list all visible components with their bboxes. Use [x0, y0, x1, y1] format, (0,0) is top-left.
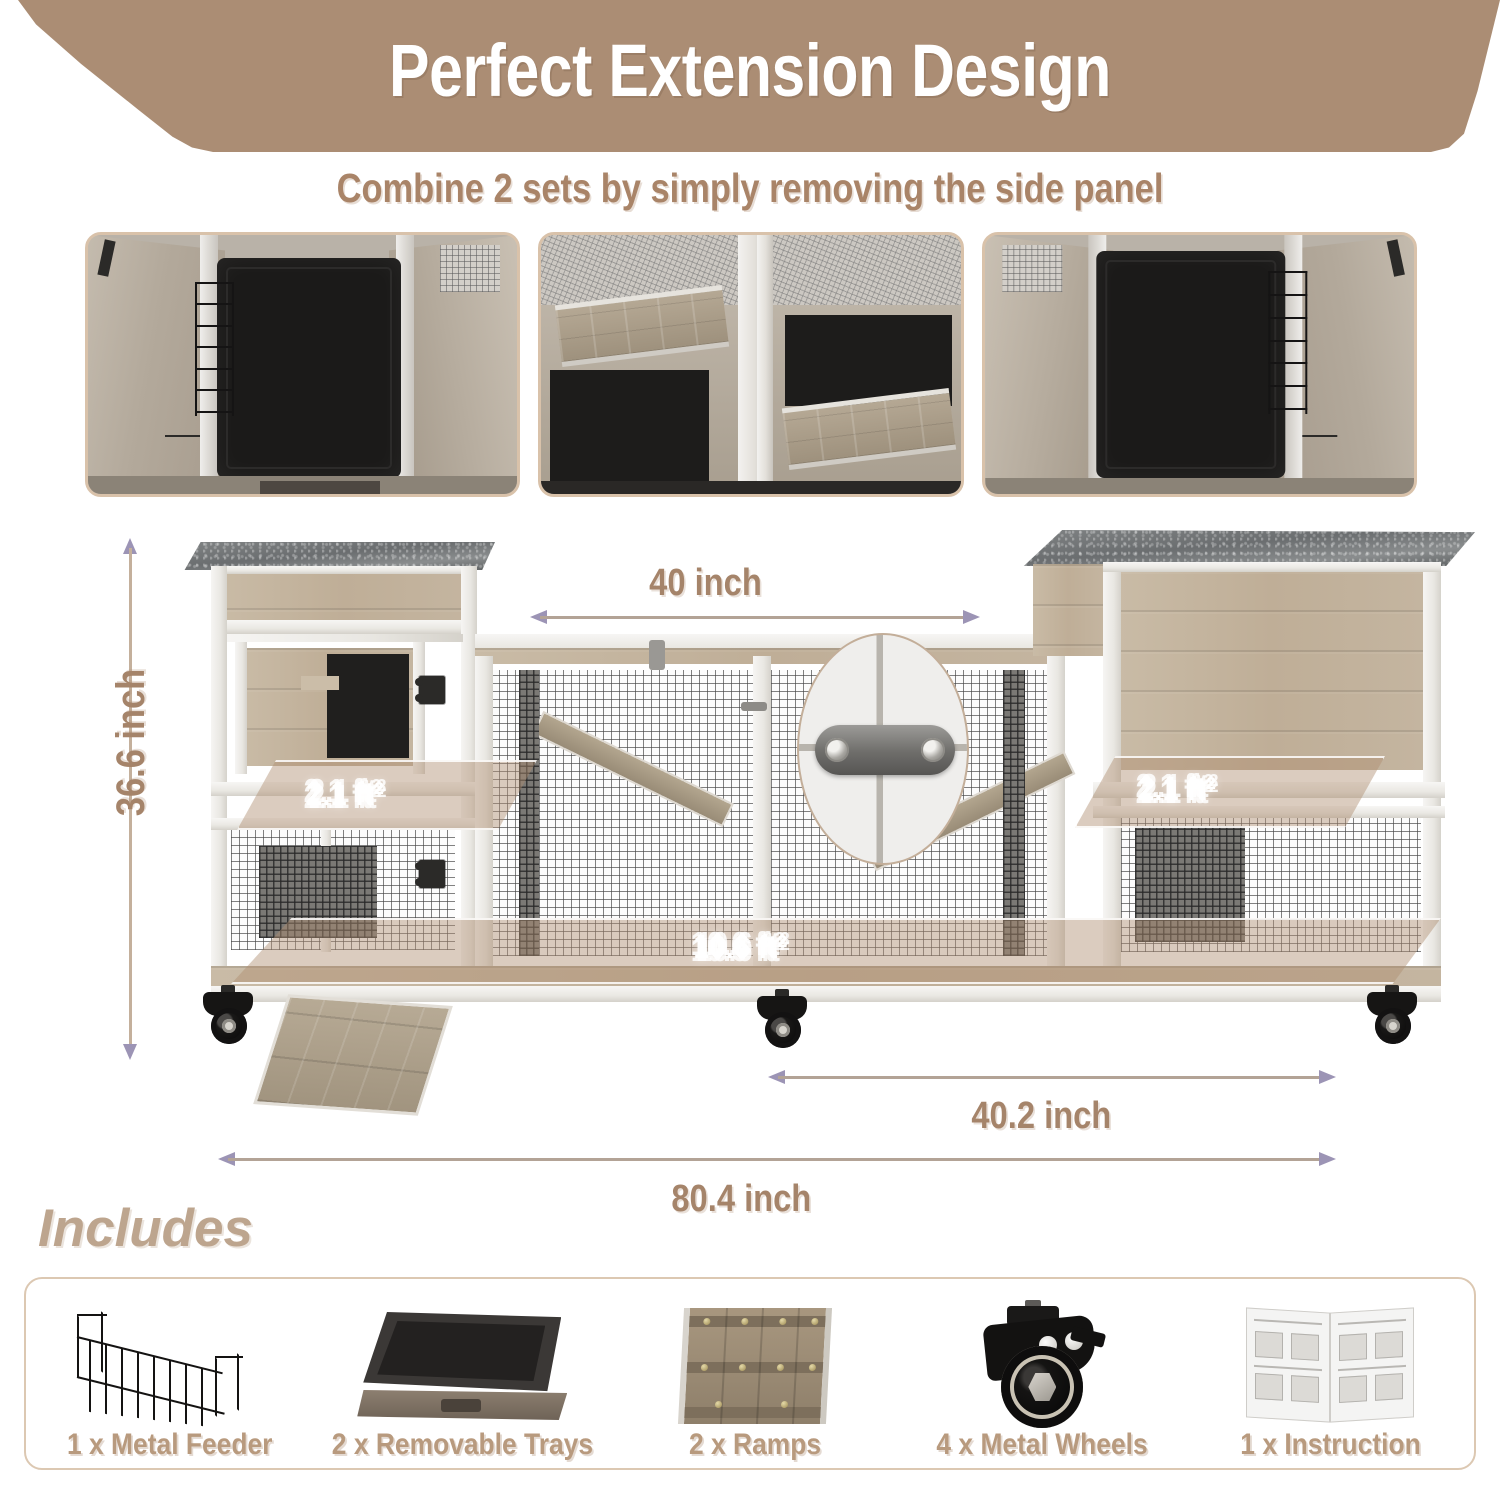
arrowhead-right-icon: [1319, 1152, 1336, 1166]
roof-right: [995, 530, 1475, 566]
arrow-shaft: [228, 1158, 1326, 1161]
caster-wheel-front-right: [1365, 992, 1421, 1044]
include-item-metal-wheels: 4 x Metal Wheels: [898, 1279, 1186, 1468]
dimension-arrow-top-width: [530, 610, 980, 624]
screw-icon: [921, 738, 945, 762]
area-plane-upper-left: [237, 760, 537, 830]
include-item-metal-feeder: 1 x Metal Feeder: [26, 1279, 314, 1468]
door-frame-top-left: [227, 634, 463, 642]
mesh-shadow-strip: [1003, 670, 1025, 956]
frame-top-right: [1103, 562, 1441, 572]
area-label-upper-left: 2.1 ft²: [306, 775, 383, 813]
interior-scene: [88, 235, 517, 494]
dimension-arrow-half-width: [768, 1070, 1336, 1084]
black-tray: [1096, 251, 1285, 479]
center-post: [757, 235, 773, 494]
area-label-lower: 10.6 ft²: [693, 928, 787, 966]
includes-heading: Includes: [38, 1198, 253, 1259]
hinge-upper-left: [419, 676, 445, 704]
arrowhead-down-icon: [123, 1044, 137, 1060]
include-item-instruction: 1 x Instruction: [1186, 1279, 1474, 1468]
screw-icon: [825, 738, 849, 762]
panel-connector-callout: [797, 633, 969, 865]
wood-panel-right-front: [1119, 570, 1423, 770]
removable-tray-icon: [314, 1302, 611, 1428]
metal-feeder-icon: [195, 282, 234, 417]
latch-bar: [741, 702, 767, 711]
include-label: 2 x Ramps: [689, 1428, 821, 1462]
photo-two-hutches-joined: [538, 232, 963, 497]
frame-top-left: [213, 566, 475, 574]
wire-mesh-patch: [440, 245, 500, 292]
door-window-opening-left: [327, 654, 409, 758]
include-label: 1 x Metal Feeder: [67, 1428, 272, 1462]
page-title: Perfect Extension Design: [135, 28, 1365, 113]
black-tray: [217, 258, 402, 478]
photo-hutch-interior-left: [85, 232, 520, 497]
metal-feeder-icon: [26, 1302, 314, 1428]
caster-tyre: [1375, 1008, 1411, 1044]
floor-shadow: [541, 481, 960, 494]
arrow-shaft: [778, 1076, 1326, 1079]
caster-wheel-front-left: [201, 992, 257, 1044]
joined-hutch-scene: [541, 235, 960, 494]
arrow-shaft: [540, 616, 970, 619]
include-label: 4 x Metal Wheels: [937, 1428, 1148, 1462]
wood-panel-upper-left: [219, 568, 469, 622]
caster-tyre: [211, 1008, 247, 1044]
post-left-outer: [211, 566, 227, 986]
base-rail-frame: [211, 986, 1441, 1002]
floor-slot: [260, 481, 380, 494]
floor-edge: [985, 478, 1414, 494]
frame-mid-left: [213, 620, 475, 634]
wire-mesh-patch: [1002, 245, 1062, 292]
photo-strip: [85, 232, 1417, 497]
mesh-shadow-strip: [519, 670, 539, 956]
hinge-lower-left: [419, 860, 445, 888]
product-diagram: 36.6 inch: [0, 512, 1500, 1212]
dark-interior-left: [550, 370, 709, 489]
metal-hook: [165, 435, 199, 437]
includes-panel: 1 x Metal Feeder 2 x Removable Trays: [24, 1277, 1476, 1470]
external-ramp: [253, 994, 453, 1115]
area-plane-upper-right: [1075, 756, 1385, 828]
arrowhead-right-icon: [963, 610, 980, 624]
area-plane-lower: [231, 918, 1441, 984]
latch-hook-icon: [649, 640, 665, 670]
dimension-label-top-width: 40 inch: [649, 562, 762, 605]
include-item-removable-trays: 2 x Removable Trays: [314, 1279, 611, 1468]
include-label: 2 x Removable Trays: [332, 1428, 593, 1462]
page-subtitle: Combine 2 sets by simply removing the si…: [120, 165, 1380, 212]
door-stile-right: [413, 642, 425, 774]
dimension-label-height: 36.6 inch: [109, 669, 154, 816]
photo-hutch-interior-right: [982, 232, 1417, 497]
dimension-label-half-width: 40.2 inch: [971, 1095, 1111, 1138]
dimension-arrow-total-width: [218, 1152, 1336, 1166]
interior-scene-mirrored: [985, 235, 1414, 494]
metal-feeder-icon: [1268, 271, 1307, 413]
window-ledge: [301, 676, 339, 690]
caster-tyre: [765, 1012, 801, 1048]
metal-hook: [1302, 435, 1336, 437]
instruction-manual-icon: [1186, 1302, 1474, 1428]
metal-wheel-icon: [898, 1302, 1186, 1428]
ramp-icon: [611, 1302, 899, 1428]
door-stile-left: [235, 642, 247, 774]
include-label: 1 x Instruction: [1240, 1428, 1420, 1462]
area-label-upper-right: 2.1 ft²: [1138, 770, 1215, 808]
dimension-label-total-width: 80.4 inch: [671, 1178, 811, 1221]
metal-connector-plate: [815, 725, 955, 775]
caster-wheel-center: [755, 996, 811, 1048]
include-item-ramps: 2 x Ramps: [611, 1279, 899, 1468]
wood-panel-right-side: [1033, 564, 1103, 656]
arrowhead-right-icon: [1319, 1070, 1336, 1084]
